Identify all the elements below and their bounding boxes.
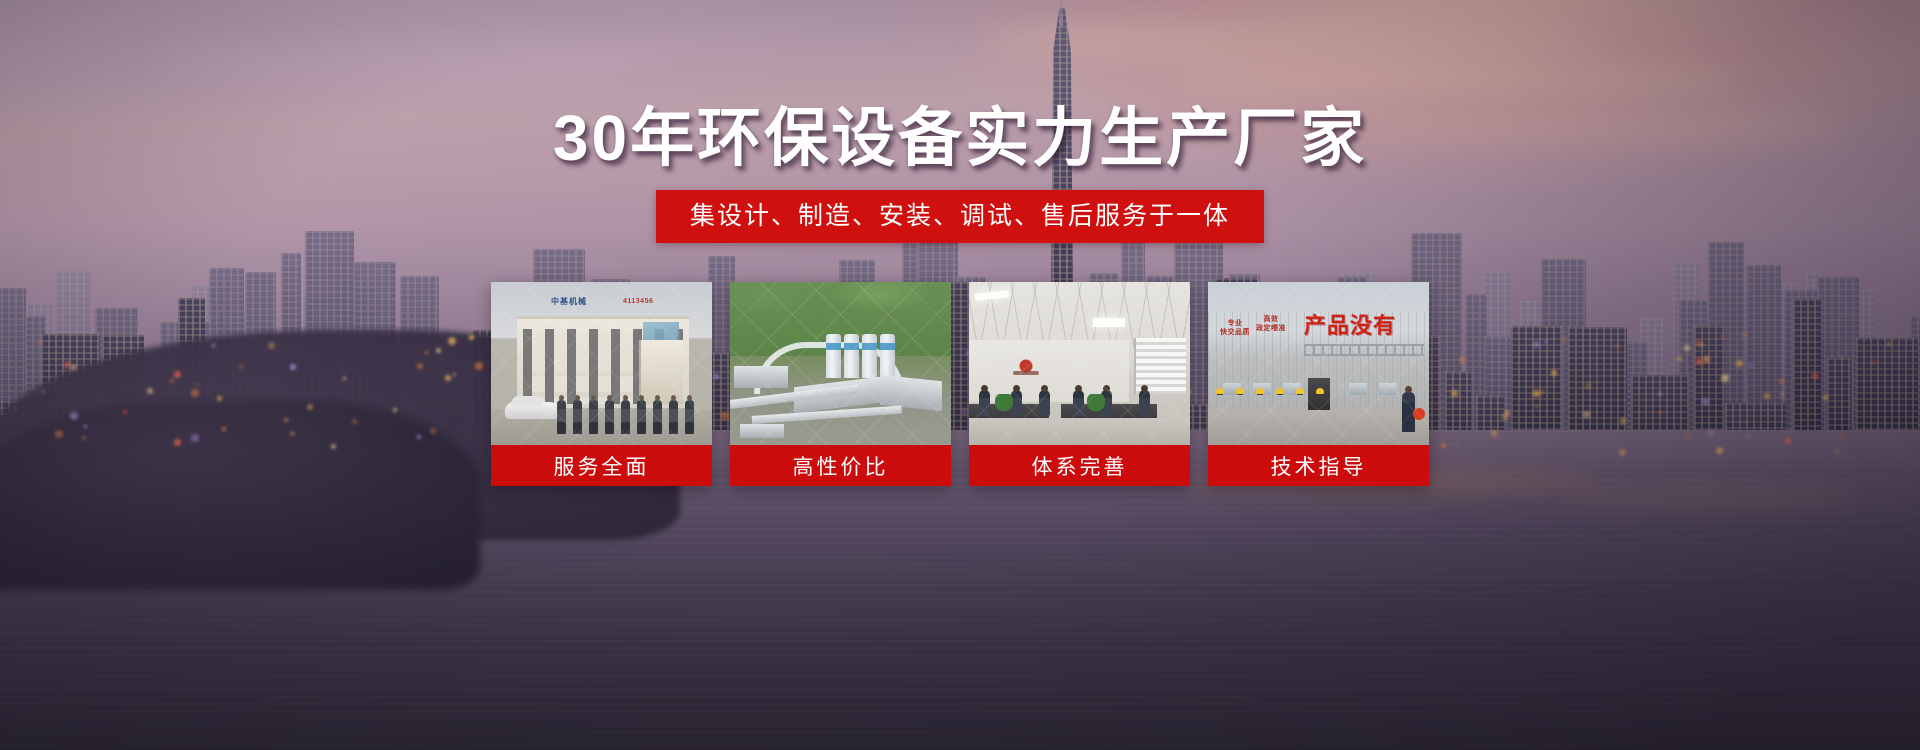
wall-emblem: [1015, 358, 1037, 378]
hardhat-worker: [1214, 394, 1226, 432]
factory-window: [1348, 382, 1368, 396]
hardhat-worker: [1294, 394, 1306, 432]
production-plant-aerial-photo: [730, 282, 951, 445]
office-worker: [1139, 390, 1150, 416]
hero-banner: 30年环保设备实力生产厂家 集设计、制造、安装、调试、售后服务于一体 中基机械 …: [0, 0, 1920, 750]
feature-card-label: 体系完善: [969, 445, 1190, 486]
banner-subtitle-bar: 集设计、制造、安装、调试、售后服务于一体: [656, 190, 1264, 243]
factory-railing: [1304, 344, 1424, 356]
feature-card-row: 中基机械 4113456 服务全面: [491, 282, 1429, 486]
storage-silo: [862, 334, 877, 378]
office-worker: [1039, 390, 1050, 416]
hardhat-worker: [1274, 394, 1286, 432]
feature-card[interactable]: 产品没有 专业 快交品质 高效 政定喂准: [1208, 282, 1429, 486]
factory-slogan-main: 产品没有: [1304, 308, 1396, 340]
potted-plant: [1087, 394, 1105, 416]
office-worker: [979, 390, 990, 416]
factory-slogan-left-2: 高效 政定喂准: [1256, 316, 1286, 334]
ceiling-light: [1093, 318, 1125, 327]
company-headquarters-photo: 中基机械 4113456: [491, 282, 712, 445]
office-floor: [969, 418, 1190, 445]
banner-content: 30年环保设备实力生产厂家 集设计、制造、安装、调试、售后服务于一体 中基机械 …: [0, 0, 1920, 750]
building-phone-number: 4113456: [623, 298, 653, 305]
feature-card-label: 服务全面: [491, 445, 712, 486]
hardhat-worker: [1254, 394, 1266, 432]
factory-window: [1378, 382, 1398, 396]
banner-headline: 30年环保设备实力生产厂家: [0, 103, 1920, 173]
storage-silo: [880, 334, 895, 378]
storage-silo: [826, 334, 841, 378]
feature-card-label: 高性价比: [730, 445, 951, 486]
building-entrance: [639, 340, 683, 404]
feature-card[interactable]: 高性价比: [730, 282, 951, 486]
storage-silo: [844, 334, 859, 378]
feature-card-label: 技术指导: [1208, 445, 1429, 486]
potted-plant: [995, 394, 1013, 416]
feature-card[interactable]: 中基机械 4113456 服务全面: [491, 282, 712, 486]
parked-car: [505, 402, 561, 419]
factory-slogan-left-1: 专业 快交品质: [1220, 320, 1250, 338]
factory-workshop-photo: 产品没有 专业 快交品质 高效 政定喂准: [1208, 282, 1429, 445]
plant-building: [740, 424, 784, 438]
hardhat-worker: [1234, 394, 1246, 432]
red-helmet: [1413, 408, 1425, 420]
hardhat-worker: [1314, 394, 1326, 432]
feature-card[interactable]: 体系完善: [969, 282, 1190, 486]
office-worker: [1073, 390, 1084, 416]
plant-building: [734, 366, 788, 388]
building-signage: 中基机械: [551, 296, 587, 307]
office-interior-photo: [969, 282, 1190, 445]
